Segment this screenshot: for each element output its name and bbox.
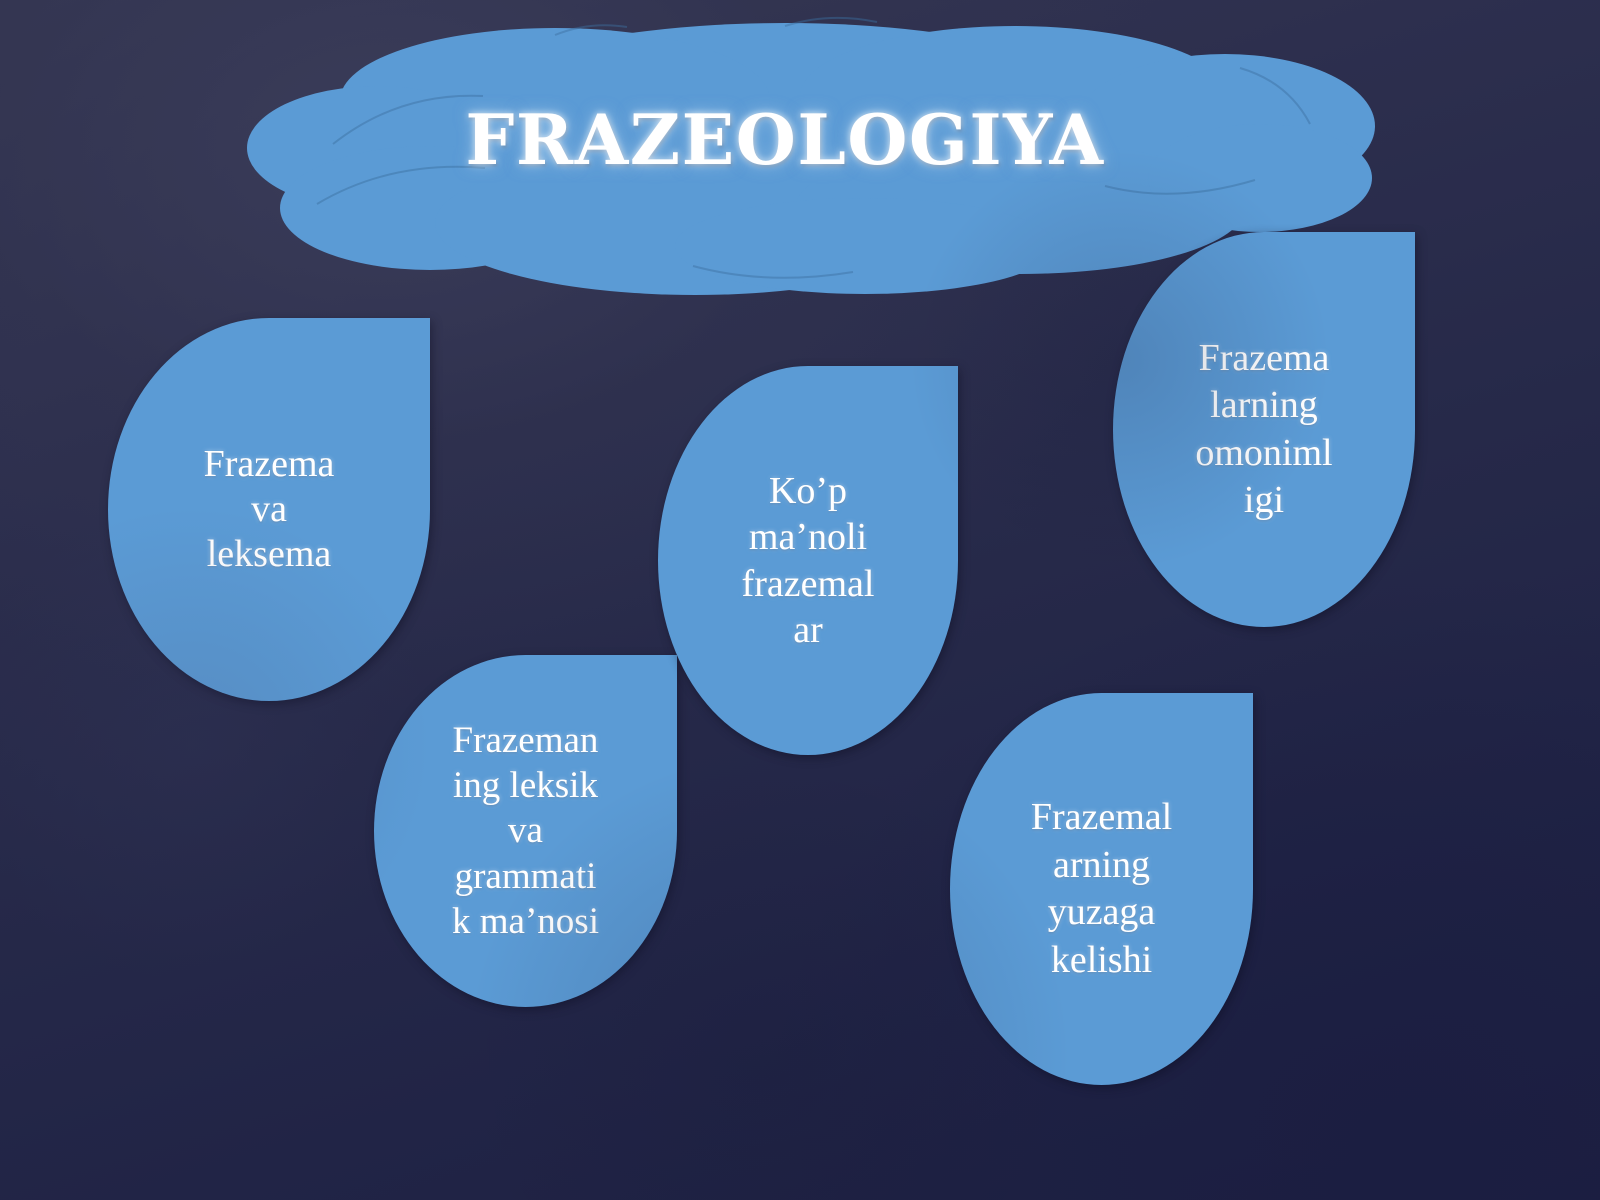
node-label: Ko’p ma’noli frazemal ar — [742, 468, 875, 653]
node-frazemalarning-omonimligi[interactable]: Frazema larning omoniml igi — [1113, 232, 1415, 627]
node-frazemaning-leksik-va-grammatik-manosi[interactable]: Frazeman ing leksik va grammati k ma’nos… — [374, 655, 677, 1007]
cloud-icon — [225, 8, 1345, 293]
node-label: Frazeman ing leksik va grammati k ma’nos… — [452, 718, 599, 944]
node-frazemalarning-yuzaga-kelishi[interactable]: Frazemal arning yuzaga kelishi — [950, 693, 1253, 1085]
node-label: Frazema va leksema — [204, 442, 335, 576]
node-label: Frazema larning omoniml igi — [1195, 335, 1332, 525]
slide-canvas: FRAZEOLOGIYA Frazema va leksema Frazeman… — [0, 0, 1600, 1200]
node-frazema-va-leksema[interactable]: Frazema va leksema — [108, 318, 430, 701]
node-label: Frazemal arning yuzaga kelishi — [1031, 794, 1172, 984]
cloud-shape-group[interactable]: FRAZEOLOGIYA — [225, 8, 1345, 293]
node-kop-manoli-frazemalar[interactable]: Ko’p ma’noli frazemal ar — [658, 366, 958, 755]
